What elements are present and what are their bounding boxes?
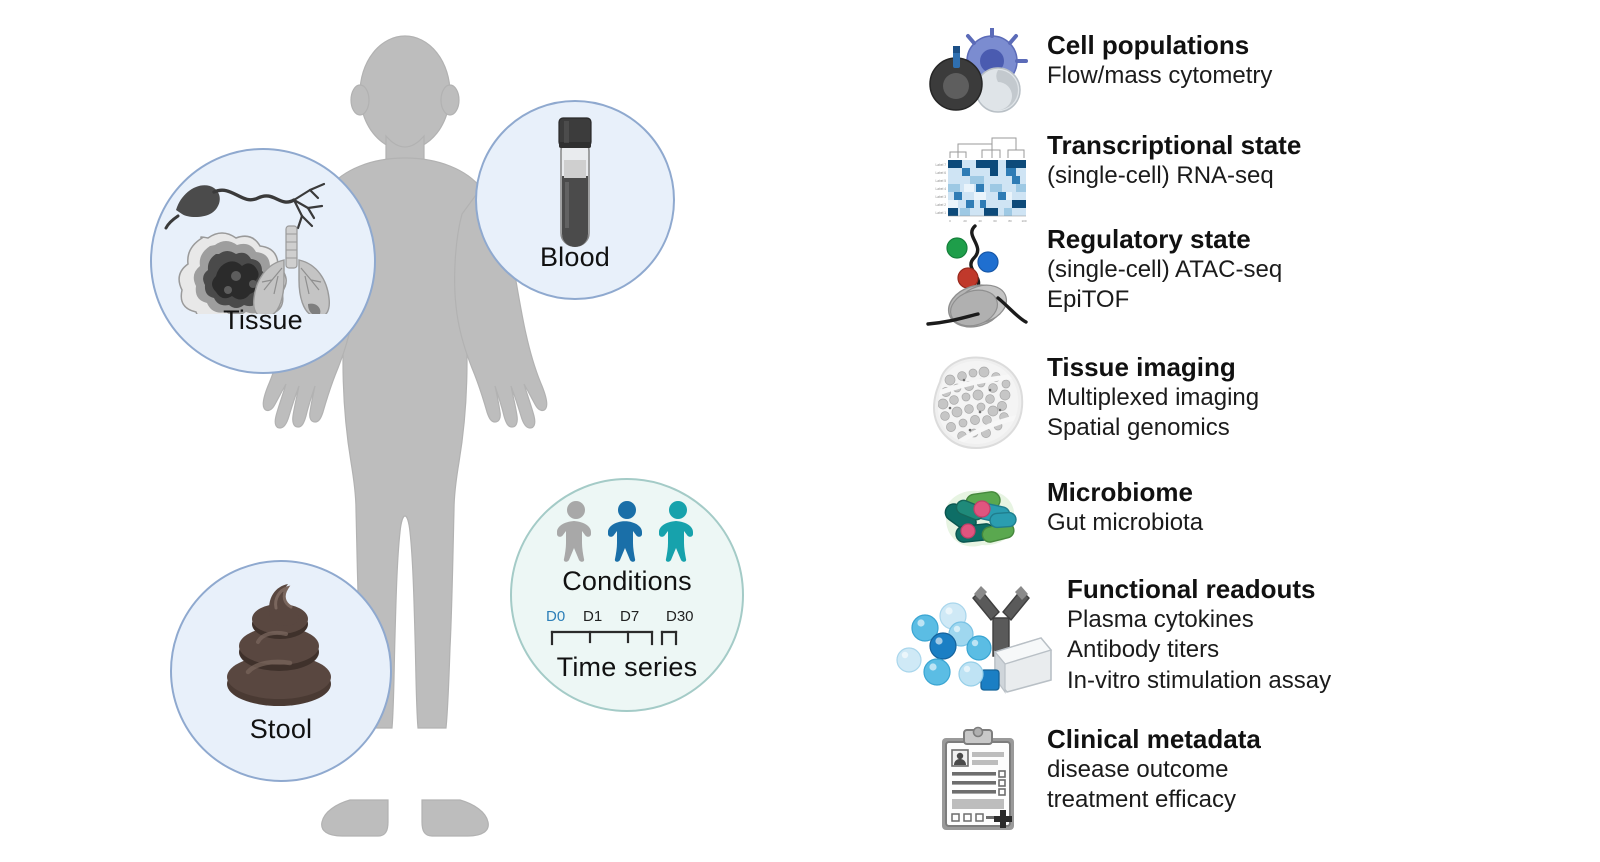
assay-line: (single-cell) ATAC-seq bbox=[1047, 255, 1282, 286]
condition-person-blue bbox=[608, 501, 642, 562]
sample-circle-blood[interactable]: Blood bbox=[475, 100, 675, 300]
nucleosome-chromatin-icon bbox=[920, 222, 1030, 334]
sample-label-blood: Blood bbox=[477, 242, 673, 273]
culture-flask-icon bbox=[981, 638, 1051, 692]
sample-label-tissue: Tissue bbox=[152, 305, 374, 336]
assay-list-panel: Cell populations Flow/mass cytometry Lab… bbox=[900, 0, 1600, 862]
timepoint-label-d30: D30 bbox=[666, 608, 694, 625]
control-person bbox=[557, 501, 591, 562]
assay-title: Tissue imaging bbox=[1047, 352, 1259, 383]
assay-row-cell-populations[interactable]: Cell populations Flow/mass cytometry bbox=[920, 28, 1272, 118]
assay-title: Transcriptional state bbox=[1047, 130, 1301, 161]
assay-line: treatment efficacy bbox=[1047, 785, 1261, 816]
timepoint-label-d7: D7 bbox=[620, 608, 639, 625]
conditions-label: Conditions bbox=[512, 566, 742, 597]
timeline-ticks bbox=[540, 628, 712, 652]
assay-title: Functional readouts bbox=[1061, 574, 1331, 605]
assay-line: disease outcome bbox=[1047, 755, 1261, 786]
stool-icon bbox=[214, 580, 344, 710]
assay-title: Microbiome bbox=[1047, 477, 1203, 508]
assay-title: Clinical metadata bbox=[1047, 724, 1261, 755]
assay-line: Flow/mass cytometry bbox=[1047, 61, 1272, 92]
assay-line: Antibody titers bbox=[1061, 635, 1331, 666]
clipboard-icon bbox=[920, 722, 1030, 834]
immune-cells-icon bbox=[920, 28, 1030, 118]
assay-row-transcriptional-state[interactable]: Label 7Label 6 Label 5Label 4 Label 3Lab… bbox=[920, 128, 1301, 228]
svg-text:Label 3: Label 3 bbox=[936, 195, 947, 199]
assay-line: In-vitro stimulation assay bbox=[1061, 666, 1331, 697]
study-design-circle[interactable]: Conditions D0 D1 D7 D30 bbox=[510, 478, 744, 712]
assay-title: Regulatory state bbox=[1047, 224, 1282, 255]
neuron-icon bbox=[166, 184, 324, 228]
blood-collection-tube-icon bbox=[545, 116, 605, 256]
sample-label-stool: Stool bbox=[172, 714, 390, 745]
assay-line: Spatial genomics bbox=[1047, 413, 1259, 444]
assay-line: Multiplexed imaging bbox=[1047, 383, 1259, 414]
assay-line: Plasma cytokines bbox=[1061, 605, 1331, 636]
timepoint-label-d0: D0 bbox=[546, 608, 565, 625]
assay-row-microbiome[interactable]: Microbiome Gut microbiota bbox=[920, 475, 1203, 567]
assay-line: Gut microbiota bbox=[1047, 508, 1203, 539]
assay-line: EpiTOF bbox=[1047, 285, 1282, 316]
svg-text:Label 1: Label 1 bbox=[936, 211, 947, 215]
cytokine-spheres bbox=[897, 603, 991, 686]
condition-person-teal bbox=[659, 501, 693, 562]
svg-text:Label 4: Label 4 bbox=[936, 187, 947, 191]
bacteria-icon bbox=[920, 475, 1030, 567]
sample-circle-stool[interactable]: Stool bbox=[170, 560, 392, 782]
condition-figures-group bbox=[554, 500, 700, 562]
assay-line: (single-cell) RNA-seq bbox=[1047, 161, 1301, 192]
svg-text:Label 5: Label 5 bbox=[936, 179, 947, 183]
tissue-icons-group bbox=[158, 164, 368, 314]
time-series-label: Time series bbox=[512, 652, 742, 683]
figure-canvas: Tissue Blood bbox=[0, 0, 1600, 862]
histology-section-icon bbox=[920, 350, 1030, 460]
assay-row-functional-readouts[interactable]: Functional readouts Plasma cytokines Ant… bbox=[895, 572, 1331, 702]
svg-text:Label 6: Label 6 bbox=[936, 171, 947, 175]
svg-text:Label 7: Label 7 bbox=[936, 163, 947, 167]
sample-circle-tissue[interactable]: Tissue bbox=[150, 148, 376, 374]
assay-row-regulatory-state[interactable]: Regulatory state (single-cell) ATAC-seq … bbox=[920, 222, 1282, 334]
sample-collection-panel: Tissue Blood bbox=[0, 0, 790, 862]
heatmap-dendrogram-icon: Label 7Label 6 Label 5Label 4 Label 3Lab… bbox=[920, 128, 1030, 228]
timepoint-label-d1: D1 bbox=[583, 608, 602, 625]
assay-row-tissue-imaging[interactable]: Tissue imaging Multiplexed imaging Spati… bbox=[920, 350, 1259, 460]
assay-title: Cell populations bbox=[1047, 30, 1272, 61]
svg-text:Label 2: Label 2 bbox=[936, 203, 947, 207]
assay-row-clinical-metadata[interactable]: Clinical metadata disease outcome treatm… bbox=[920, 722, 1261, 834]
antibody-cytokine-flask-icon bbox=[895, 572, 1055, 702]
